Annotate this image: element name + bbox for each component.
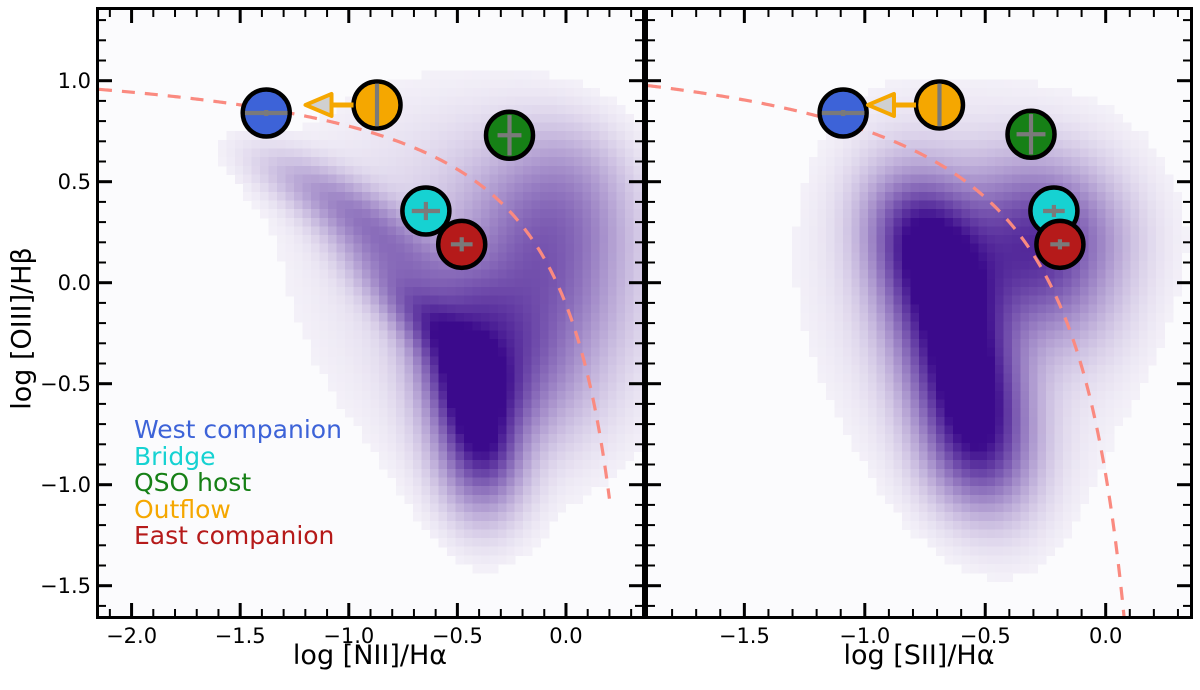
- legend-item-east-companion: East companion: [134, 523, 342, 550]
- y-tick-label: −0.5: [21, 372, 91, 396]
- legend-item-west-companion: West companion: [134, 417, 342, 444]
- y-tick-label: −1.0: [21, 473, 91, 497]
- sii-bpt-plot-area: [648, 10, 1190, 616]
- y-tick-label: 0.0: [21, 271, 91, 295]
- x-tick-label: −1.0: [839, 624, 890, 648]
- x-tick-label: −1.5: [719, 624, 770, 648]
- y-tick-label: 1.0: [21, 69, 91, 93]
- density-histogram: [792, 79, 1190, 582]
- bpt-diagram-figure: { "figure": { "ylabel": "log [OIII]/H\u0…: [0, 0, 1200, 690]
- x-tick-label: −0.5: [960, 624, 1011, 648]
- data-point-west-companion: [243, 90, 290, 137]
- y-tick-label: 0.5: [21, 170, 91, 194]
- legend: West companion Bridge QSO host Outflow E…: [134, 417, 342, 550]
- data-point-qso-host: [486, 112, 533, 159]
- data-point-east-companion: [438, 221, 485, 268]
- x-tick-label: −1.5: [215, 624, 266, 648]
- x-tick-label: −0.5: [432, 624, 483, 648]
- data-point-qso-host: [1008, 111, 1055, 158]
- data-point-west-companion: [820, 90, 867, 137]
- y-tick-label: −1.5: [21, 574, 91, 598]
- data-point-east-companion: [1036, 221, 1083, 268]
- legend-item-qso-host: QSO host: [134, 470, 342, 497]
- x-tick-label: −2.0: [106, 624, 157, 648]
- x-tick-label: −1.0: [323, 624, 374, 648]
- x-tick-label: 0.0: [549, 624, 582, 648]
- y-axis-title: log [OIII]/Hβ: [7, 159, 38, 499]
- legend-item-bridge: Bridge: [134, 444, 342, 471]
- x-tick-label: 0.0: [1089, 624, 1122, 648]
- panel-sii-bpt: [645, 7, 1193, 619]
- legend-item-outflow: Outflow: [134, 497, 342, 524]
